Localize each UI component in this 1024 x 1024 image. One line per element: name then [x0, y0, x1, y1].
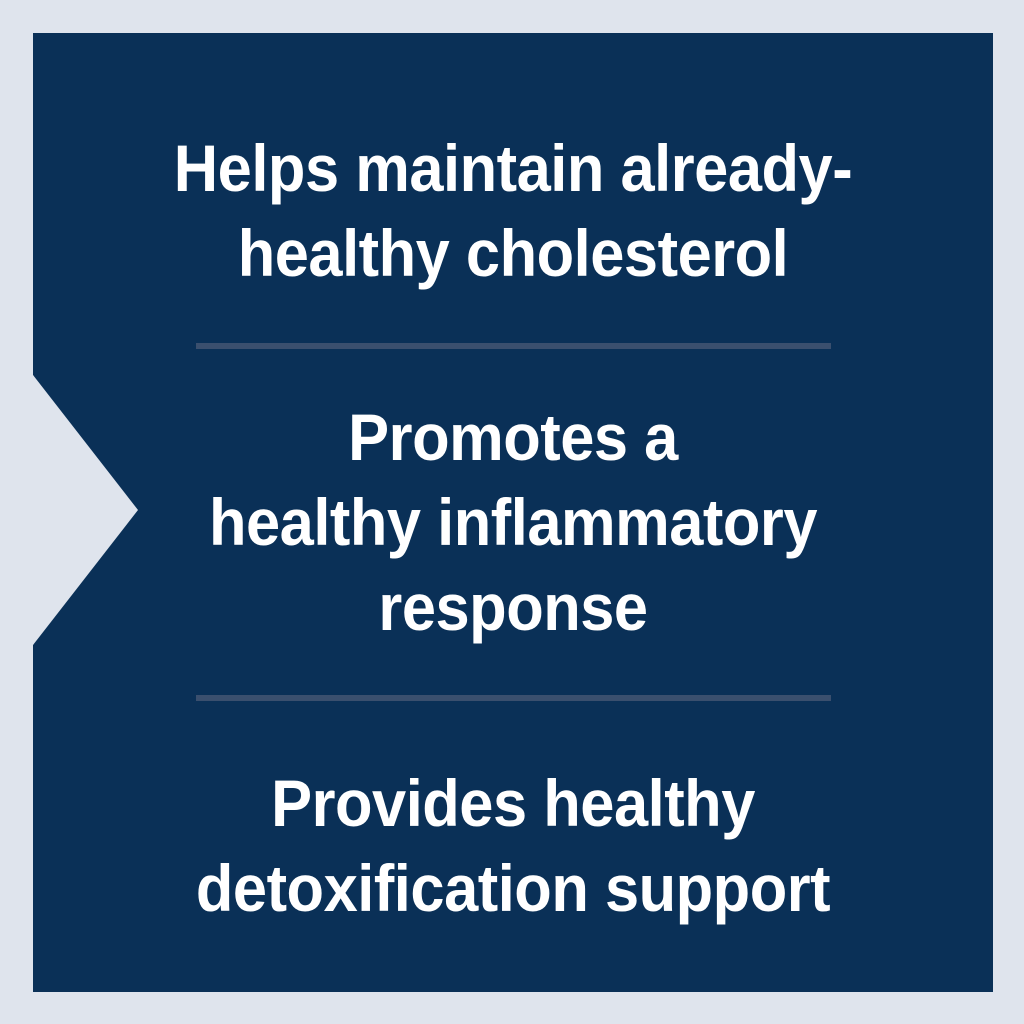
benefit-item-inflammatory: Promotes a healthy inflammatory response [33, 349, 993, 694]
benefit-item-cholesterol: Helps maintain already- healthy choleste… [33, 33, 993, 343]
benefit-item-detoxification: Provides healthy detoxification support [33, 701, 993, 992]
benefits-list: Helps maintain already- healthy choleste… [33, 33, 993, 992]
benefit-text-cholesterol: Helps maintain already- healthy choleste… [67, 126, 960, 296]
benefit-text-detoxification: Provides healthy detoxification support [67, 761, 960, 931]
product-benefits-panel: Helps maintain already- healthy choleste… [33, 33, 993, 992]
benefit-text-inflammatory: Promotes a healthy inflammatory response [67, 395, 960, 650]
benefits-graphic: Helps maintain already- healthy choleste… [0, 0, 1024, 1024]
